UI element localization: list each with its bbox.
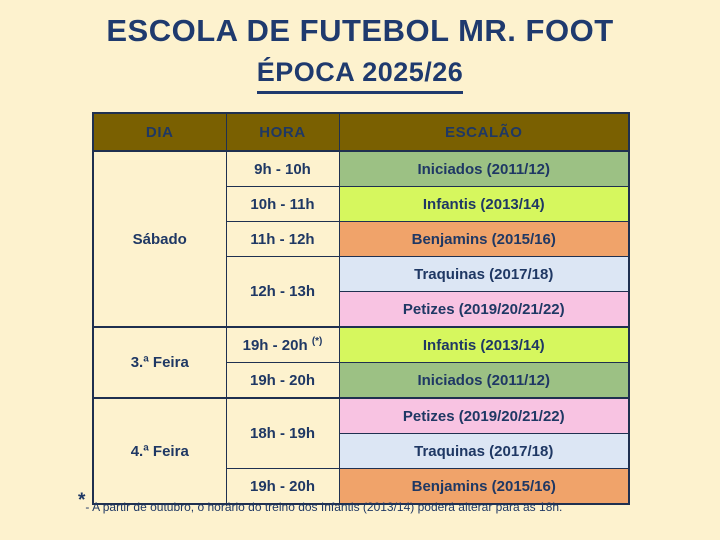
cell-escalao: Iniciados (2011/12) (339, 151, 629, 187)
cell-escalao: Iniciados (2011/12) (339, 363, 629, 399)
page-subtitle: ÉPOCA 2025/26 (257, 55, 464, 94)
cell-hora-text: 19h - 20h (243, 337, 308, 354)
cell-hora-text: 12h - 13h (250, 283, 315, 300)
table-row: Sábado9h - 10hIniciados (2011/12) (93, 151, 629, 187)
cell-hora-text: 18h - 19h (250, 425, 315, 442)
column-header-hora: HORA (226, 113, 339, 151)
schedule-table-container: DIA HORA ESCALÃO Sábado9h - 10hIniciados… (92, 112, 628, 505)
cell-hora: 19h - 20h (226, 363, 339, 399)
page-title: ESCOLA DE FUTEBOL MR. FOOT (0, 12, 720, 51)
footnote-text: - A partir de outubro, o horário do trei… (85, 500, 562, 514)
cell-hora-text: 10h - 11h (250, 196, 314, 213)
cell-hora-text: 9h - 10h (254, 161, 311, 178)
cell-hora: 19h - 20h (*) (226, 327, 339, 363)
cell-hora: 9h - 10h (226, 151, 339, 187)
cell-escalao: Traquinas (2017/18) (339, 257, 629, 292)
cell-dia: 3.ª Feira (93, 327, 226, 398)
column-header-dia: DIA (93, 113, 226, 151)
column-header-escalao: ESCALÃO (339, 113, 629, 151)
cell-escalao: Benjamins (2015/16) (339, 469, 629, 505)
cell-escalao: Petizes (2019/20/21/22) (339, 292, 629, 328)
cell-hora-text: 11h - 12h (250, 231, 314, 248)
cell-escalao: Infantis (2013/14) (339, 187, 629, 222)
cell-hora: 12h - 13h (226, 257, 339, 328)
cell-escalao: Traquinas (2017/18) (339, 434, 629, 469)
cell-escalao: Benjamins (2015/16) (339, 222, 629, 257)
cell-hora: 11h - 12h (226, 222, 339, 257)
page-title-block: ESCOLA DE FUTEBOL MR. FOOT ÉPOCA 2025/26 (0, 0, 720, 94)
cell-hora: 18h - 19h (226, 398, 339, 469)
cell-hora: 19h - 20h (226, 469, 339, 505)
schedule-table: DIA HORA ESCALÃO Sábado9h - 10hIniciados… (92, 112, 630, 505)
cell-hora-text: 19h - 20h (250, 478, 315, 495)
cell-hora-footnote-marker: (*) (312, 336, 323, 347)
cell-dia: Sábado (93, 151, 226, 327)
footnote: *- A partir de outubro, o horário do tre… (78, 500, 562, 514)
table-header-row: DIA HORA ESCALÃO (93, 113, 629, 151)
table-row: 4.ª Feira18h - 19hPetizes (2019/20/21/22… (93, 398, 629, 434)
cell-hora-text: 19h - 20h (250, 372, 315, 389)
cell-escalao: Infantis (2013/14) (339, 327, 629, 363)
cell-escalao: Petizes (2019/20/21/22) (339, 398, 629, 434)
table-row: 3.ª Feira19h - 20h (*)Infantis (2013/14) (93, 327, 629, 363)
cell-hora: 10h - 11h (226, 187, 339, 222)
cell-dia: 4.ª Feira (93, 398, 226, 504)
